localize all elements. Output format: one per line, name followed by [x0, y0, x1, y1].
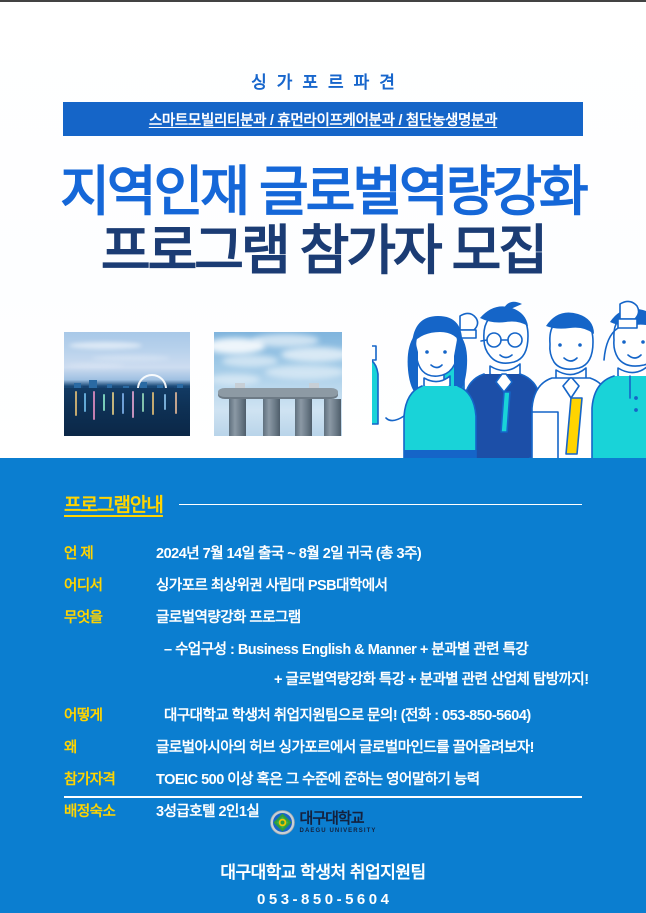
detail-row-eligibility: 참가자격 TOEIC 500 이상 혹은 그 수준에 준하는 영어말하기 능력	[64, 768, 604, 789]
detail-label: 어떻게	[64, 704, 156, 725]
illustration-cheering-students	[372, 300, 646, 475]
university-name-ko: 대구대학교	[300, 811, 377, 826]
detail-subvalue: – 수업구성 : Business English & Manner + 분과별…	[156, 638, 528, 659]
detail-row-when: 언 제 2024년 7월 14일 출국 ~ 8월 2일 귀국 (총 3주)	[64, 542, 604, 563]
program-details-list: 언 제 2024년 7월 14일 출국 ~ 8월 2일 귀국 (총 3주) 어디…	[64, 542, 604, 832]
poster-footer: 대구대학교 DAEGU UNIVERSITY 대구대학교 학생처 취업지원팀 0…	[0, 810, 646, 908]
detail-value: 2024년 7월 14일 출국 ~ 8월 2일 귀국 (총 3주)	[156, 542, 421, 563]
section-title: 프로그램안내	[64, 490, 163, 517]
mbs-tower	[229, 399, 246, 436]
page-title-line2: 프로그램 참가자 모집	[0, 206, 646, 285]
detail-label: 어디서	[64, 574, 156, 595]
top-border	[0, 0, 646, 2]
detail-row-why: 왜 글로벌아시아의 허브 싱가포르에서 글로벌마인드를 끌어올려보자!	[64, 736, 604, 757]
department-name: 대구대학교 학생처 취업지원팀	[0, 858, 646, 883]
university-name-en: DAEGU UNIVERSITY	[300, 828, 377, 834]
mbs-tower	[263, 399, 280, 436]
eyebrow-text: 싱가포르파견	[0, 68, 646, 93]
detail-subline-extra: + 글로벌역량강화 특강 + 분과별 관련 산업체 탐방까지!	[64, 668, 604, 689]
university-logo-text: 대구대학교 DAEGU UNIVERSITY	[300, 811, 377, 834]
contact-telephone: 053-850-5604	[0, 891, 646, 908]
detail-value: 싱가포르 최상위권 사립대 PSB대학에서	[156, 574, 388, 595]
mbs-tower	[324, 399, 341, 436]
detail-row-how: 어떻게 대구대학교 학생처 취업지원팀으로 문의! (전화 : 053-850-…	[64, 704, 604, 725]
detail-row-what: 무엇을 글로벌역량강화 프로그램	[64, 606, 604, 627]
subjects-banner: 스마트모빌리티분과 / 휴먼라이프케어분과 / 첨단농생명분과	[63, 102, 583, 136]
subjects-banner-label: 스마트모빌리티분과 / 휴먼라이프케어분과 / 첨단농생명분과	[149, 109, 497, 130]
detail-subline-curriculum: – 수업구성 : Business English & Manner + 분과별…	[64, 638, 604, 659]
poster: 싱가포르파견 스마트모빌리티분과 / 휴먼라이프케어분과 / 첨단농생명분과 지…	[0, 0, 646, 913]
detail-value: 대구대학교 학생처 취업지원팀으로 문의! (전화 : 053-850-5604…	[156, 704, 531, 725]
detail-label: 참가자격	[64, 768, 156, 789]
program-info-panel: 프로그램안내 언 제 2024년 7월 14일 출국 ~ 8월 2일 귀국 (총…	[0, 458, 646, 913]
skypark-deck	[218, 388, 338, 397]
detail-label: 왜	[64, 736, 156, 757]
cloud-wisp	[92, 355, 170, 361]
water-reflection	[64, 388, 190, 436]
section-rule	[179, 504, 582, 506]
detail-label: 언 제	[64, 542, 156, 563]
daegu-university-emblem-icon	[270, 810, 295, 835]
section-header: 프로그램안내	[64, 490, 582, 517]
detail-value: 글로벌아시아의 허브 싱가포르에서 글로벌마인드를 끌어올려보자!	[156, 736, 534, 757]
detail-value: 글로벌역량강화 프로그램	[156, 606, 301, 627]
detail-subvalue: + 글로벌역량강화 특강 + 분과별 관련 산업체 탐방까지!	[156, 668, 589, 689]
photo-marina-bay-sands	[214, 332, 342, 436]
top-white-area: 싱가포르파견 스마트모빌리티분과 / 휴먼라이프케어분과 / 첨단농생명분과 지…	[0, 0, 646, 460]
photo-singapore-skyline	[64, 332, 190, 436]
university-logo: 대구대학교 DAEGU UNIVERSITY	[270, 810, 377, 835]
detail-row-where: 어디서 싱가포르 최상위권 사립대 PSB대학에서	[64, 574, 604, 595]
detail-label: 무엇을	[64, 606, 156, 627]
detail-value: TOEIC 500 이상 혹은 그 수준에 준하는 영어말하기 능력	[156, 768, 480, 789]
footer-divider	[64, 796, 582, 798]
mbs-tower	[295, 399, 312, 436]
